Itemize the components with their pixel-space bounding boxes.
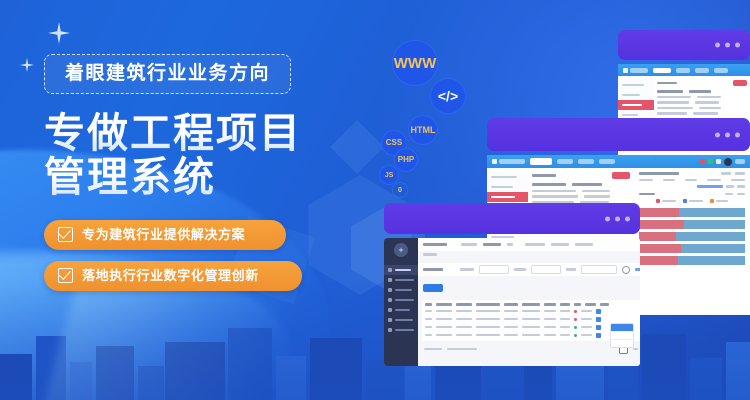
filter-select[interactable] xyxy=(479,265,509,274)
tree-item[interactable] xyxy=(487,172,528,182)
window-controls[interactable] xyxy=(605,216,630,221)
feature-badge-label: 落地执行行业数字化管理创新 xyxy=(82,269,259,282)
tech-bubble-label: 0 xyxy=(398,187,402,194)
add-button[interactable] xyxy=(423,284,443,292)
notification-icon[interactable] xyxy=(700,159,705,164)
tree-item[interactable] xyxy=(487,182,528,192)
tech-bubble-label: JS xyxy=(385,172,394,179)
subtitle-text: 着眼建筑行业业务方向 xyxy=(65,64,270,83)
app-navbar[interactable] xyxy=(487,155,750,168)
status-badge xyxy=(574,326,577,329)
tech-bubble-html: HTML xyxy=(408,115,438,145)
filter-toolbar[interactable] xyxy=(418,263,640,276)
legend-item xyxy=(710,199,728,203)
window-controls[interactable] xyxy=(715,43,740,48)
app-logo-icon xyxy=(394,243,408,257)
checkbox-check-icon xyxy=(58,227,73,242)
page-button[interactable] xyxy=(633,348,638,351)
sidebar-item[interactable] xyxy=(384,285,418,295)
nav-tab[interactable] xyxy=(695,68,709,73)
row-action-icon[interactable] xyxy=(596,325,601,330)
app-sidebar[interactable] xyxy=(384,238,418,366)
chart-bar-row xyxy=(639,220,745,229)
header-menu-item[interactable] xyxy=(551,243,569,246)
window-dot[interactable] xyxy=(605,216,610,221)
headline-line-1: 专做工程项目 xyxy=(44,111,364,155)
window-titlebar[interactable] xyxy=(618,30,750,60)
app-logo-icon xyxy=(492,159,525,164)
status-badge xyxy=(574,318,577,321)
chart-bar-row xyxy=(639,244,745,253)
chart-bar-row xyxy=(639,256,745,265)
tech-bubble-label: PHP xyxy=(398,156,414,164)
window-dot[interactable] xyxy=(725,43,730,48)
delete-button[interactable] xyxy=(612,172,630,179)
table-footer xyxy=(418,341,640,358)
sparkle-large-icon xyxy=(48,22,70,44)
filter-label xyxy=(514,268,526,271)
window-content xyxy=(384,238,640,366)
list-item[interactable] xyxy=(532,195,630,198)
message-icon[interactable] xyxy=(708,159,713,164)
action-button[interactable] xyxy=(733,80,747,86)
tech-bubble-label: CSS xyxy=(386,139,402,147)
subtitle-box: 着眼建筑行业业务方向 xyxy=(44,54,291,94)
window-controls[interactable] xyxy=(715,132,740,137)
bar-chart xyxy=(639,208,745,265)
filter-label xyxy=(566,268,576,271)
sidebar-item[interactable] xyxy=(384,275,418,285)
nav-tab-selected[interactable] xyxy=(530,158,552,165)
legend-item xyxy=(656,199,676,203)
row-action-icon[interactable] xyxy=(596,317,601,322)
app-header[interactable] xyxy=(418,238,640,251)
dashboard-window-front[interactable] xyxy=(384,203,640,366)
chart-bar-row xyxy=(639,232,745,241)
nav-tab[interactable] xyxy=(714,68,728,73)
feature-badge-list: 专为建筑行业提供解决方案 落地执行行业数字化管理创新 xyxy=(44,220,364,291)
sidebar-item[interactable] xyxy=(384,265,418,275)
feature-badge[interactable]: 落地执行行业数字化管理创新 xyxy=(44,261,302,291)
nav-tab[interactable] xyxy=(599,159,615,164)
promo-banner: 着眼建筑行业业务方向 专做工程项目 管理系统 专为建筑行业提供解决方案 落地执行… xyxy=(0,0,750,400)
chart-bar-row xyxy=(639,208,745,217)
window-titlebar[interactable] xyxy=(487,118,750,151)
sidebar-item[interactable] xyxy=(384,315,418,325)
search-input[interactable] xyxy=(581,265,617,274)
sidebar-item[interactable] xyxy=(384,295,418,305)
tree-item-selected[interactable] xyxy=(487,192,528,202)
status-badge xyxy=(574,334,577,337)
app-navbar[interactable] xyxy=(618,64,750,76)
chart-legend xyxy=(639,199,745,203)
data-table xyxy=(422,300,640,341)
tree-item[interactable] xyxy=(618,90,654,100)
tree-item[interactable] xyxy=(618,80,654,90)
sidebar-item[interactable] xyxy=(384,325,418,335)
code-tag-icon: </> xyxy=(438,89,458,103)
nav-tab[interactable] xyxy=(557,159,573,164)
nav-tab[interactable] xyxy=(653,68,671,73)
filter-select[interactable] xyxy=(531,265,561,274)
header-menu-item[interactable] xyxy=(461,243,477,246)
window-dot[interactable] xyxy=(725,132,730,137)
avatar[interactable] xyxy=(724,158,732,166)
table-row[interactable] xyxy=(425,333,640,338)
row-action-icon[interactable] xyxy=(596,309,601,314)
window-dot[interactable] xyxy=(735,132,740,137)
header-menu-item[interactable] xyxy=(575,243,593,246)
module-title xyxy=(423,243,447,246)
app-main xyxy=(418,238,640,366)
breadcrumb xyxy=(418,251,640,263)
table-row[interactable] xyxy=(425,317,640,322)
table-row[interactable] xyxy=(425,309,640,314)
list-item[interactable] xyxy=(532,190,630,193)
window-dot[interactable] xyxy=(735,43,740,48)
sparkle-small-icon xyxy=(20,58,34,72)
table-row[interactable] xyxy=(425,325,640,330)
headline-line-2: 管理系统 xyxy=(44,155,364,199)
context-menu-item[interactable] xyxy=(611,339,633,347)
copy-block: 着眼建筑行业业务方向 专做工程项目 管理系统 专为建筑行业提供解决方案 落地执行… xyxy=(44,54,364,302)
context-menu-item[interactable] xyxy=(611,331,633,339)
settings-icon[interactable] xyxy=(716,159,721,164)
legend-item xyxy=(683,199,703,203)
filter-label xyxy=(460,268,474,271)
nav-tab[interactable] xyxy=(676,68,690,73)
window-titlebar[interactable] xyxy=(384,203,640,234)
tree-item-selected[interactable] xyxy=(618,100,654,110)
window-dot[interactable] xyxy=(715,132,720,137)
page-title: 专做工程项目 管理系统 xyxy=(44,111,364,200)
tech-bubble-label: HTML xyxy=(411,126,436,135)
navbar-actions[interactable] xyxy=(700,158,745,166)
search-icon[interactable] xyxy=(622,266,630,274)
window-dot[interactable] xyxy=(715,43,720,48)
tech-bubble-php: PHP xyxy=(394,148,418,172)
app-logo-icon xyxy=(623,68,648,73)
user-name xyxy=(735,159,745,164)
nav-tab[interactable] xyxy=(578,159,594,164)
header-menu-item[interactable] xyxy=(525,243,545,246)
header-menu-item-active[interactable] xyxy=(483,243,501,246)
context-menu[interactable] xyxy=(610,323,634,348)
sidebar-item[interactable] xyxy=(384,305,418,315)
window-dot[interactable] xyxy=(615,216,620,221)
tech-bubble-www: WWW xyxy=(392,40,438,86)
advanced-filter-link[interactable] xyxy=(635,268,640,271)
checkbox-check-icon xyxy=(58,268,73,283)
table-header-row xyxy=(425,303,640,306)
tech-bubble-code: </> xyxy=(430,78,466,114)
status-badge xyxy=(574,310,577,313)
detail-panel xyxy=(634,168,750,314)
context-menu-item-active[interactable] xyxy=(611,324,633,331)
window-dot[interactable] xyxy=(625,216,630,221)
header-menu-item[interactable] xyxy=(507,243,513,246)
feature-badge-label: 专为建筑行业提供解决方案 xyxy=(82,228,245,241)
tech-bubble-zero: 0 xyxy=(392,182,408,198)
filter-label xyxy=(423,268,443,271)
tech-bubble-label: WWW xyxy=(394,56,436,71)
row-action-icon[interactable] xyxy=(596,333,601,338)
feature-badge[interactable]: 专为建筑行业提供解决方案 xyxy=(44,220,286,250)
